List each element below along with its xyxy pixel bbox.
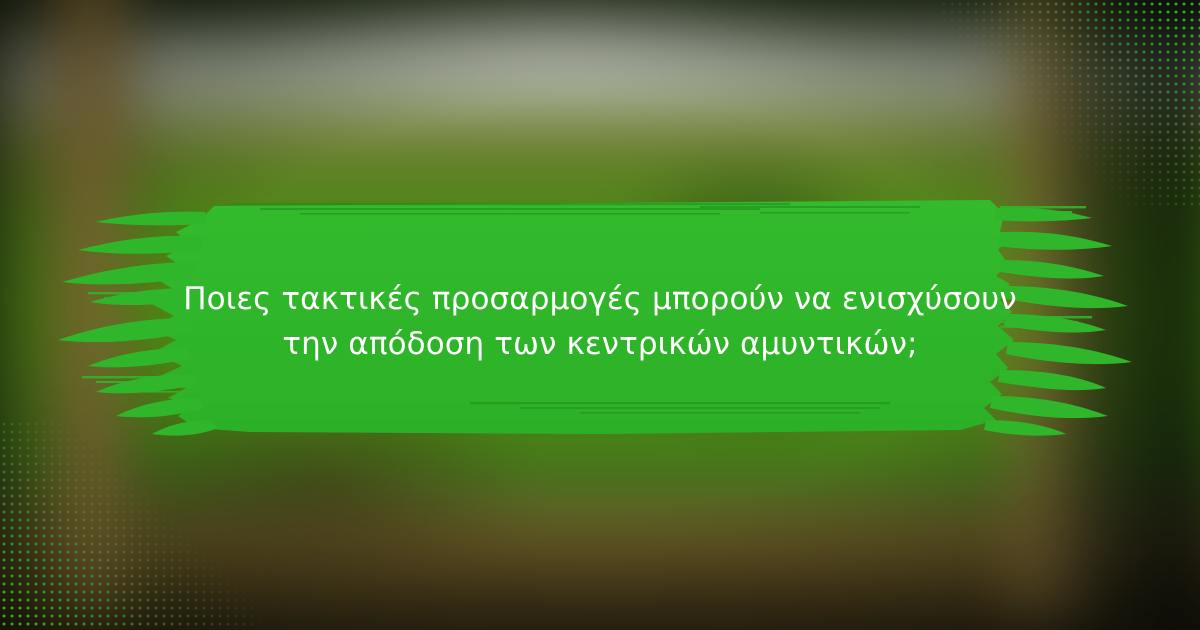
headline-text: Ποιες τακτικές προσαρμογές μπορούν να εν… (150, 277, 1050, 367)
share-card: Ποιες τακτικές προσαρμογές μπορούν να εν… (0, 0, 1200, 630)
